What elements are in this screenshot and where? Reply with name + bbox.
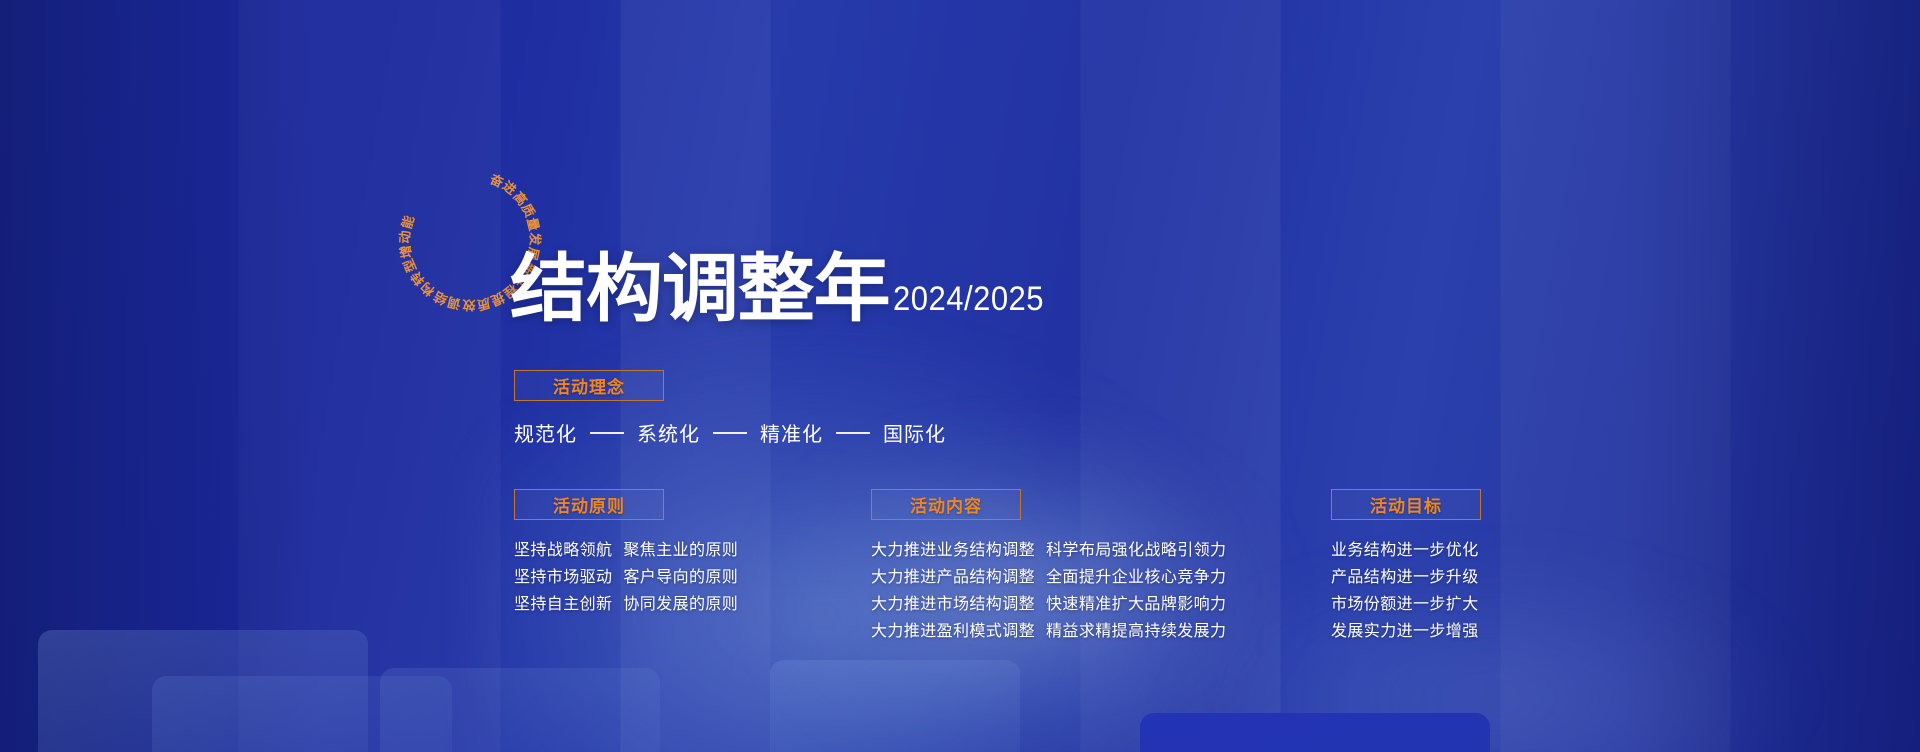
decorative-rounded-rect-3 (380, 668, 660, 752)
list-item-secondary: 全面提升企业核心竞争力 (1046, 563, 1226, 590)
concept-item: 国际化 (883, 418, 946, 447)
badge-activity-principle[interactable]: 活动原则 (514, 489, 664, 520)
concept-item: 规范化 (514, 418, 577, 447)
list-item-primary: 发展实力进一步增强 (1331, 617, 1479, 644)
list-item-primary: 坚持市场驱动 (514, 563, 612, 590)
list-item: 坚持战略领航聚焦主业的原则 (514, 536, 738, 563)
list-item-secondary: 精益求精提高持续发展力 (1046, 617, 1226, 644)
list-item: 产品结构进一步升级 (1331, 563, 1490, 590)
list-item: 大力推进产品结构调整全面提升企业核心竞争力 (871, 563, 1226, 590)
badge-activity-idea-label: 活动理念 (553, 373, 625, 398)
hero-title-row: 结构调整年 2024/2025 (510, 250, 1044, 328)
list-item: 坚持市场驱动客户导向的原则 (514, 563, 738, 590)
concept-item: 系统化 (637, 418, 700, 447)
page-title: 结构调整年 (510, 250, 890, 328)
column-principle: 坚持战略领航聚焦主业的原则坚持市场驱动客户导向的原则坚持自主创新协同发展的原则 (514, 536, 738, 617)
list-item-primary: 业务结构进一步优化 (1331, 536, 1479, 563)
list-item-primary: 大力推进业务结构调整 (871, 536, 1035, 563)
concept-separator (713, 432, 747, 434)
concept-separator (836, 432, 870, 434)
decorative-rounded-rect-4 (770, 660, 1020, 752)
concept-line: 规范化系统化精准化国际化 (514, 418, 946, 447)
list-item: 坚持自主创新协同发展的原则 (514, 590, 738, 617)
list-item-secondary: 快速精准扩大品牌影响力 (1046, 590, 1226, 617)
title-years: 2024/2025 (893, 279, 1044, 319)
list-item: 大力推进业务结构调整科学布局强化战略引领力 (871, 536, 1226, 563)
list-item: 发展实力进一步增强 (1331, 617, 1490, 644)
badge-activity-content-label: 活动内容 (910, 492, 982, 517)
list-item-primary: 市场份额进一步扩大 (1331, 590, 1479, 617)
list-item: 大力推进市场结构调整快速精准扩大品牌影响力 (871, 590, 1226, 617)
badge-activity-content[interactable]: 活动内容 (871, 489, 1021, 520)
list-item-secondary: 聚焦主业的原则 (623, 536, 738, 563)
list-item-primary: 产品结构进一步升级 (1331, 563, 1479, 590)
column-content: 大力推进业务结构调整科学布局强化战略引领力大力推进产品结构调整全面提升企业核心竞… (871, 536, 1226, 644)
list-item: 市场份额进一步扩大 (1331, 590, 1490, 617)
badge-activity-idea[interactable]: 活动理念 (514, 370, 664, 401)
list-item-primary: 坚持战略领航 (514, 536, 612, 563)
list-item: 大力推进盈利模式调整精益求精提高持续发展力 (871, 617, 1226, 644)
list-item-primary: 大力推进盈利模式调整 (871, 617, 1035, 644)
decorative-rounded-rect-5 (1140, 713, 1490, 752)
badge-activity-goal-label: 活动目标 (1370, 492, 1442, 517)
list-item-secondary: 客户导向的原则 (623, 563, 738, 590)
list-item-secondary: 科学布局强化战略引领力 (1046, 536, 1226, 563)
list-item-secondary: 协同发展的原则 (623, 590, 738, 617)
list-item: 业务结构进一步优化 (1331, 536, 1490, 563)
column-goal: 业务结构进一步优化产品结构进一步升级市场份额进一步扩大发展实力进一步增强 (1331, 536, 1490, 644)
list-item-primary: 坚持自主创新 (514, 590, 612, 617)
badge-activity-principle-label: 活动原则 (553, 492, 625, 517)
banner-root: 奋进高质量发展新征程提质效调结构转型增动能 结构调整年 2024/2025 活动… (0, 0, 1920, 752)
concept-separator (590, 432, 624, 434)
badge-activity-goal[interactable]: 活动目标 (1331, 489, 1481, 520)
concept-item: 精准化 (760, 418, 823, 447)
list-item-primary: 大力推进产品结构调整 (871, 563, 1035, 590)
list-item-primary: 大力推进市场结构调整 (871, 590, 1035, 617)
